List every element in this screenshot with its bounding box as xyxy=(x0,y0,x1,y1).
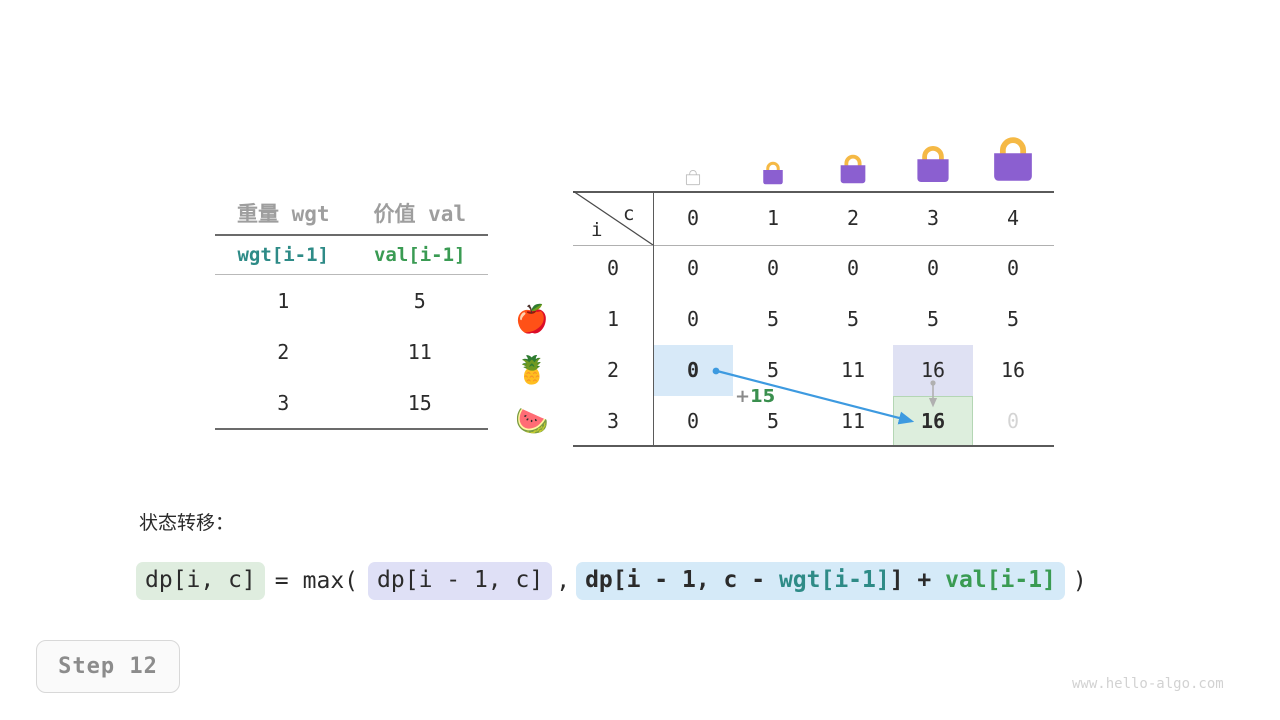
dp-cell-3-3: 16 xyxy=(893,396,973,447)
item-fruit-column: 🍎 🍍 🍉 xyxy=(506,294,558,447)
dp-corner-label-i: i xyxy=(591,219,602,241)
table-row: 2 11 xyxy=(215,326,488,377)
dp-cell-0-1: 0 xyxy=(733,243,813,294)
item-table-rule-bottom xyxy=(215,428,488,430)
formula-comma: , xyxy=(552,568,576,594)
dp-cell-1-3: 5 xyxy=(893,294,973,345)
dp-row-header-1: 1 xyxy=(573,294,653,345)
apple-icon: 🍎 xyxy=(506,294,558,345)
table-row: 3 15 xyxy=(215,377,488,428)
dp-gain-amount: 15 xyxy=(750,386,775,407)
dp-gain-annotation: +15 xyxy=(735,386,775,407)
bag-icon-capacity-1 xyxy=(758,158,788,188)
watermark: www.hello-algo.com xyxy=(1072,676,1224,692)
item-table: 重量 wgt 价值 val wgt[i-1] val[i-1] 1 5 2 11… xyxy=(215,192,488,430)
bag-icon-capacity-3 xyxy=(909,140,957,188)
dp-table: c i 0 1 2 3 4 0 1 2 3 0 0 0 0 0 0 5 5 5 … xyxy=(573,191,1054,445)
formula-max-open: max( xyxy=(299,568,362,594)
dp-cell-1-0: 0 xyxy=(653,294,733,345)
formula-arg1: dp[i - 1, c] xyxy=(368,562,552,600)
dp-col-header-1: 1 xyxy=(733,193,813,244)
formula-equals: = xyxy=(265,568,299,594)
formula-arg2: dp[i - 1, c - wgt[i-1]] + val[i-1] xyxy=(576,562,1065,600)
pineapple-icon: 🍍 xyxy=(506,345,558,396)
dp-cell-1-1: 5 xyxy=(733,294,813,345)
item-wgt-3: 3 xyxy=(215,391,352,415)
dp-cell-3-0: 0 xyxy=(653,396,733,447)
dp-cell-0-4: 0 xyxy=(973,243,1053,294)
table-row: 1 5 xyxy=(215,275,488,326)
formula-arg2-head: dp[i - 1, c - xyxy=(585,567,779,593)
dp-gain-sign: + xyxy=(735,386,750,407)
item-table-subheader-wgt: wgt[i-1] xyxy=(215,244,352,266)
item-val-3: 15 xyxy=(352,391,489,415)
dp-row-header-2: 2 xyxy=(573,345,653,396)
dp-row-header-3: 3 xyxy=(573,396,653,447)
item-wgt-1: 1 xyxy=(215,289,352,313)
item-table-header-row: 重量 wgt 价值 val xyxy=(215,192,488,234)
dp-col-header-4: 4 xyxy=(973,193,1053,244)
formula-close-paren: ) xyxy=(1065,568,1091,594)
item-val-1: 5 xyxy=(352,289,489,313)
bag-icon-capacity-2 xyxy=(834,150,872,188)
item-table-header-weight: 重量 wgt xyxy=(215,198,352,228)
step-badge: Step 12 xyxy=(36,640,180,693)
item-wgt-2: 2 xyxy=(215,340,352,364)
dp-cell-0-3: 0 xyxy=(893,243,973,294)
dp-row-header-0: 0 xyxy=(573,243,653,294)
dp-cell-3-2: 11 xyxy=(813,396,893,447)
dp-cell-2-0: 0 xyxy=(653,345,733,396)
formula-lhs: dp[i, c] xyxy=(136,562,265,600)
item-table-subheader-row: wgt[i-1] val[i-1] xyxy=(215,236,488,274)
dp-cell-2-3: 16 xyxy=(893,345,973,396)
dp-corner-label-c: c xyxy=(623,203,634,225)
item-table-header-value: 价值 val xyxy=(352,198,489,228)
dp-col-header-2: 2 xyxy=(813,193,893,244)
transfer-label: 状态转移： xyxy=(139,508,234,535)
item-table-subheader-val: val[i-1] xyxy=(352,244,489,266)
dp-cell-1-4: 5 xyxy=(973,294,1053,345)
bag-capacity-row xyxy=(654,124,1054,188)
dp-cell-0-2: 0 xyxy=(813,243,893,294)
dp-col-header-0: 0 xyxy=(653,193,733,244)
dp-corner-cell xyxy=(573,191,653,245)
dp-cell-1-2: 5 xyxy=(813,294,893,345)
dp-col-header-3: 3 xyxy=(893,193,973,244)
formula-arg2-mid: ] + xyxy=(890,567,945,593)
dp-cell-2-4: 16 xyxy=(973,345,1053,396)
formula-arg2-wgt: wgt[i-1] xyxy=(779,567,890,593)
bag-icon-capacity-0 xyxy=(682,166,704,188)
watermelon-icon: 🍉 xyxy=(506,396,558,447)
bag-icon-capacity-4 xyxy=(984,130,1042,188)
dp-cell-2-2: 11 xyxy=(813,345,893,396)
dp-cell-3-4: 0 xyxy=(973,396,1053,447)
dp-cell-0-0: 0 xyxy=(653,243,733,294)
item-val-2: 11 xyxy=(352,340,489,364)
state-transition-formula: dp[i, c] = max( dp[i - 1, c] , dp[i - 1,… xyxy=(136,559,1091,603)
formula-arg2-val: val[i-1] xyxy=(945,567,1056,593)
